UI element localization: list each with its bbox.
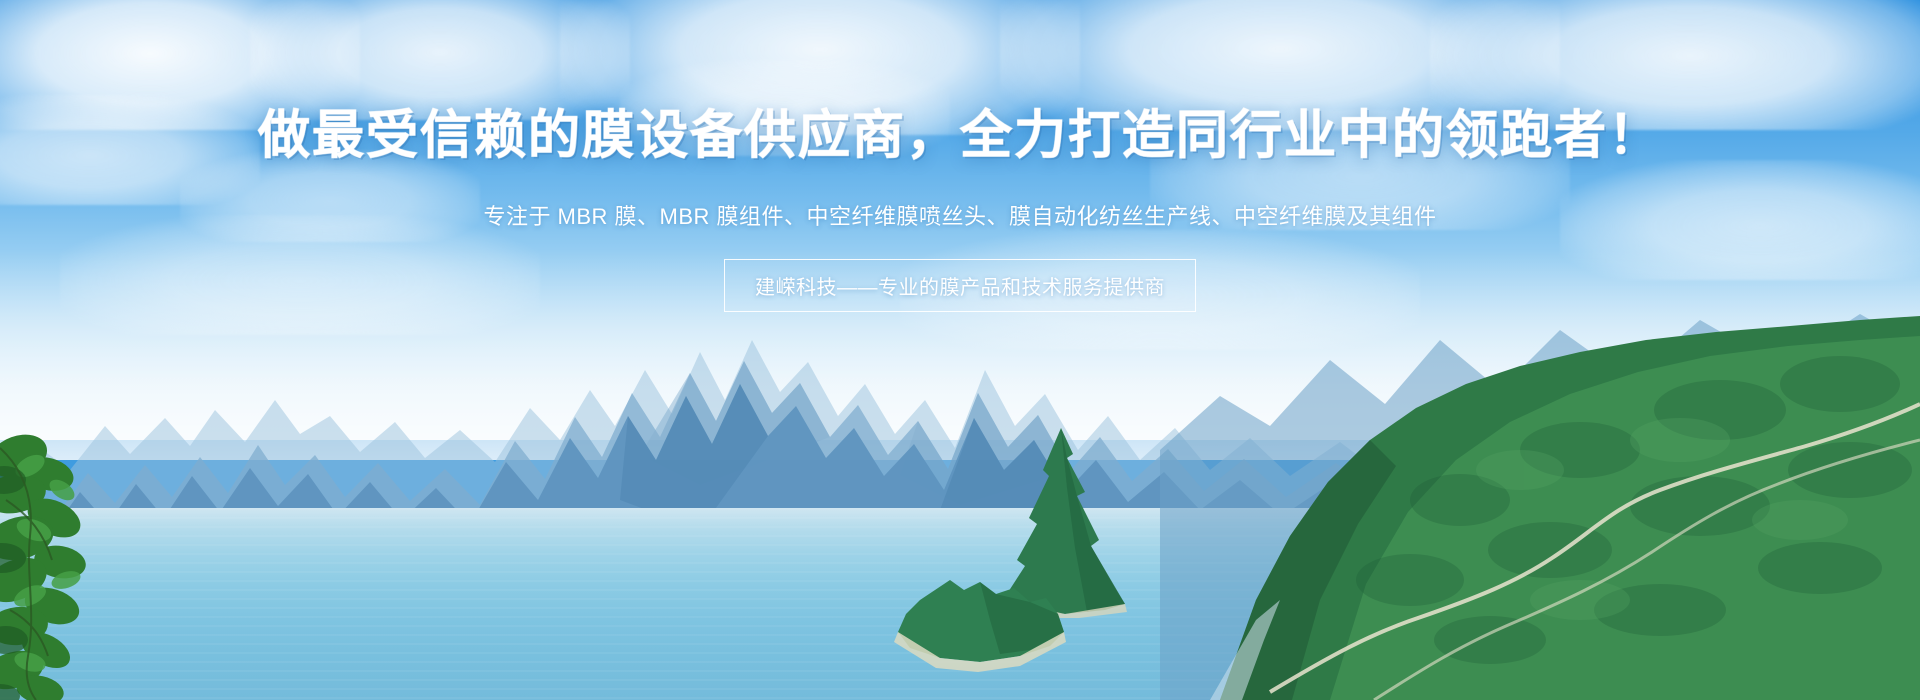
- page-title: 做最受信赖的膜设备供应商，全力打造同行业中的领跑者！: [258, 108, 1662, 165]
- tagline-box: 建嵘科技——专业的膜产品和技术服务提供商: [724, 259, 1196, 312]
- hero-subtitle: 专注于 MBR 膜、MBR 膜组件、中空纤维膜喷丝头、膜自动化纺丝生产线、中空纤…: [483, 199, 1436, 231]
- hero-banner: 做最受信赖的膜设备供应商，全力打造同行业中的领跑者！ 专注于 MBR 膜、MBR…: [0, 0, 1920, 700]
- hero-text-overlay: 做最受信赖的膜设备供应商，全力打造同行业中的领跑者！ 专注于 MBR 膜、MBR…: [0, 0, 1920, 700]
